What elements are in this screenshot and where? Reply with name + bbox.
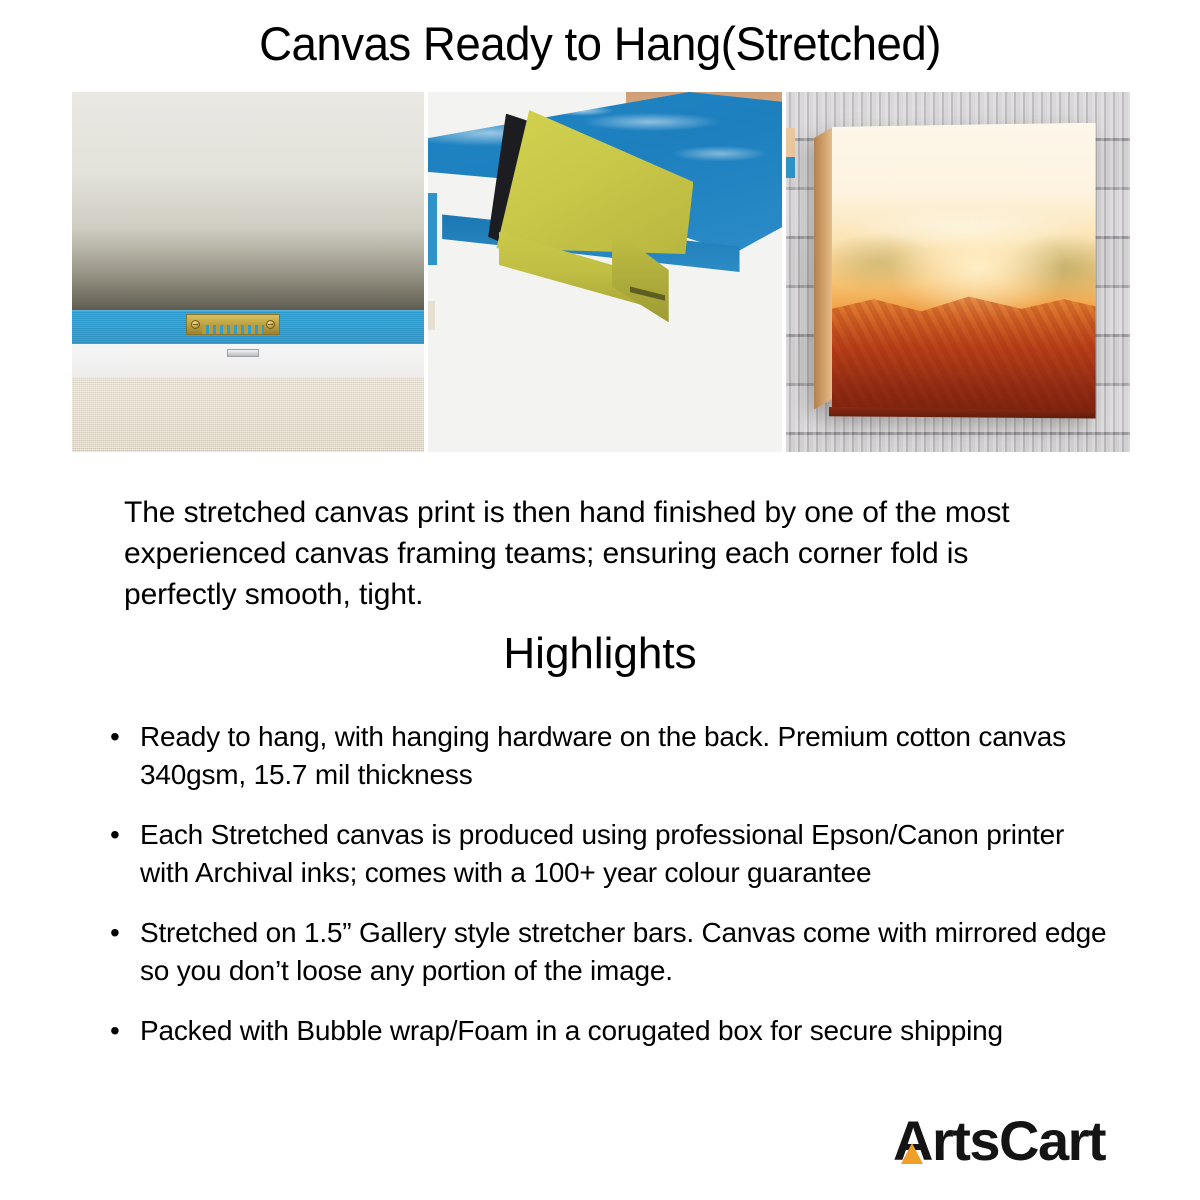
adjacent-canvas-sliver bbox=[428, 193, 437, 265]
highlight-item: • Ready to hang, with hanging hardware o… bbox=[104, 718, 1114, 794]
canvas-wrapped-side-edge bbox=[814, 127, 834, 410]
gallery-image-canvas-back-hardware bbox=[72, 92, 424, 452]
logo-letter-a: A bbox=[893, 1111, 932, 1171]
highlight-text: Stretched on 1.5” Gallery style stretche… bbox=[140, 917, 1106, 986]
product-image-gallery bbox=[72, 92, 1130, 452]
page-title: Canvas Ready to Hang(Stretched) bbox=[18, 16, 1182, 72]
artscart-logo: A rtsCart bbox=[893, 1111, 1105, 1171]
highlight-item: • Packed with Bubble wrap/Foam in a coru… bbox=[104, 1012, 1114, 1050]
highlight-item: • Each Stretched canvas is produced usin… bbox=[104, 816, 1114, 892]
cotton-canvas-texture bbox=[72, 377, 424, 452]
highlights-heading: Highlights bbox=[0, 628, 1200, 680]
gallery-image-corner-fold-detail bbox=[428, 92, 782, 452]
adjacent-image-sliver-2 bbox=[786, 157, 795, 179]
highlight-text: Each Stretched canvas is produced using … bbox=[140, 819, 1064, 888]
intro-paragraph: The stretched canvas print is then hand … bbox=[124, 492, 1084, 615]
bullet-icon: • bbox=[110, 914, 120, 952]
screw-right-icon bbox=[266, 320, 275, 329]
gallery-image-wall-mounted-canvas bbox=[786, 92, 1130, 452]
adjacent-image-sliver bbox=[786, 128, 795, 157]
highlight-item: • Stretched on 1.5” Gallery style stretc… bbox=[104, 914, 1114, 990]
bullet-icon: • bbox=[110, 1012, 120, 1050]
triangle-icon bbox=[901, 1143, 923, 1164]
adjacent-canvas-sliver-2 bbox=[428, 301, 435, 330]
bullet-icon: • bbox=[110, 718, 120, 756]
mounted-canvas bbox=[814, 123, 1096, 415]
bullet-icon: • bbox=[110, 816, 120, 854]
screw-left-icon bbox=[191, 320, 200, 329]
sawtooth-hanger-icon bbox=[186, 314, 279, 334]
highlight-text: Ready to hang, with hanging hardware on … bbox=[140, 721, 1066, 790]
hanger-clip bbox=[227, 349, 259, 356]
sunset-landscape-print bbox=[832, 123, 1096, 415]
highlights-list: • Ready to hang, with hanging hardware o… bbox=[104, 718, 1114, 1072]
highlight-text: Packed with Bubble wrap/Foam in a coruga… bbox=[140, 1015, 1003, 1046]
logo-wordmark-rest: rtsCart bbox=[932, 1111, 1105, 1171]
